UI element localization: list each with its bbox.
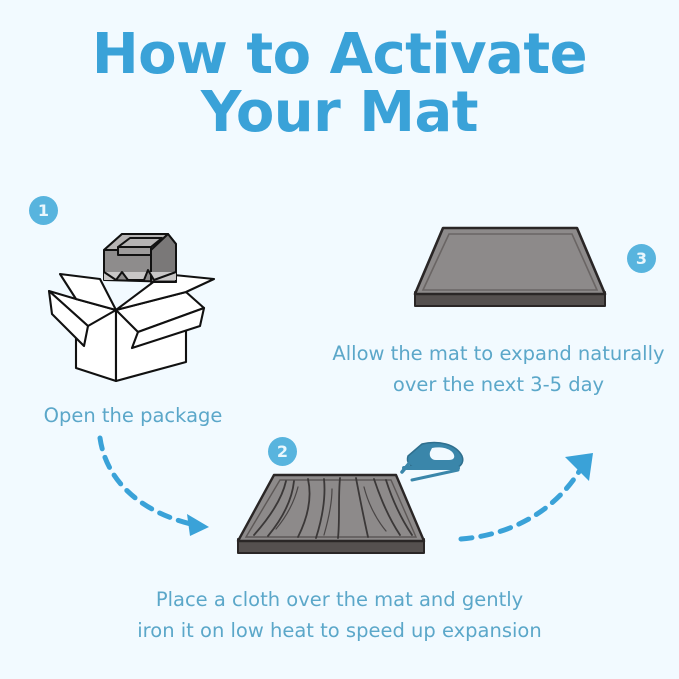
step-3-caption: Allow the mat to expand naturally over t…: [318, 338, 679, 400]
step-3-illustration: [405, 220, 615, 325]
step-3-badge: 3: [627, 244, 656, 273]
step-1-illustration: [44, 222, 224, 387]
cardboard-box-icon: [44, 222, 224, 382]
dashed-curved-arrow-down-right-icon: [92, 432, 232, 542]
title-line-1: How to Activate: [0, 26, 679, 84]
step-2-caption: Place a cloth over the mat and gently ir…: [80, 584, 599, 646]
dashed-curved-arrow-up-right-icon: [455, 443, 610, 553]
title-line-2: Your Mat: [0, 84, 679, 142]
arrow-step1-to-step2: [92, 432, 232, 547]
infographic-canvas: How to Activate Your Mat: [0, 0, 679, 679]
step-1-badge: 1: [29, 196, 58, 225]
arrow-step2-to-step3: [455, 443, 610, 558]
flat-mat-icon: [405, 220, 615, 320]
step-1-caption: Open the package: [0, 400, 266, 431]
page-title: How to Activate Your Mat: [0, 26, 679, 142]
step-2-badge: 2: [268, 437, 297, 466]
